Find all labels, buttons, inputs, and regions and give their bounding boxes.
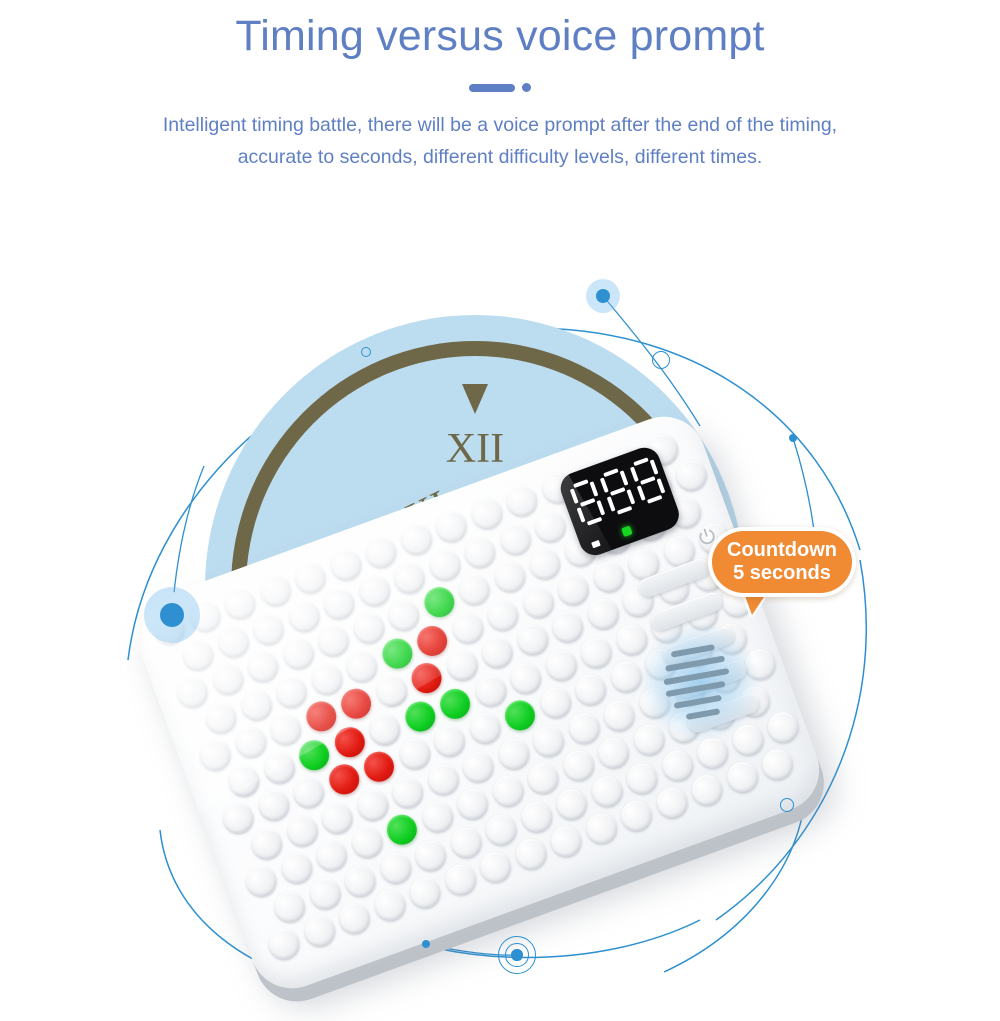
grid-pad[interactable] (594, 734, 632, 772)
grid-pad[interactable] (513, 620, 551, 658)
grid-pad-lit-green[interactable] (383, 810, 421, 848)
grid-pad-lit-green[interactable] (401, 697, 439, 735)
decor-target-ring-2 (511, 949, 522, 960)
grid-pad[interactable] (221, 584, 259, 622)
grid-pad[interactable] (247, 824, 285, 862)
grid-pad[interactable] (279, 634, 317, 672)
decor-dot-bottom (422, 940, 430, 948)
grid-pad[interactable] (542, 646, 580, 684)
grid-pad[interactable] (511, 835, 549, 873)
callout-line-1: Countdown (727, 539, 837, 562)
grid-pad[interactable] (476, 848, 514, 886)
grid-pad[interactable] (430, 722, 468, 760)
grid-pad[interactable] (571, 671, 609, 709)
grid-pad-lit-red[interactable] (337, 685, 375, 723)
grid-pad[interactable] (237, 685, 275, 723)
grid-pad[interactable] (441, 861, 479, 899)
grid-pad[interactable] (243, 647, 281, 685)
grid-pad[interactable] (758, 745, 796, 783)
grid-pad[interactable] (242, 862, 280, 900)
grid-pad-lit-green[interactable] (420, 583, 458, 621)
grid-pad[interactable] (446, 823, 484, 861)
clock-numeral-xii: XII (446, 428, 504, 470)
grid-pad[interactable] (365, 710, 403, 748)
grid-pad[interactable] (461, 533, 499, 571)
grid-pad[interactable] (388, 773, 426, 811)
led-digit (629, 456, 668, 506)
grid-pad-lit-red[interactable] (330, 723, 368, 761)
grid-pad[interactable] (411, 836, 449, 874)
grid-pad[interactable] (418, 798, 456, 836)
grid-pad[interactable] (723, 758, 761, 796)
grid-pad[interactable] (531, 507, 569, 545)
grid-pad[interactable] (341, 861, 379, 899)
grid-pad[interactable] (467, 495, 505, 533)
callout-line-2: 5 seconds (733, 562, 831, 585)
grid-pad[interactable] (224, 761, 262, 799)
grid-pad[interactable] (312, 836, 350, 874)
grid-pad[interactable] (600, 696, 638, 734)
decor-ring-upper-right (652, 351, 670, 369)
grid-pad-lit-red[interactable] (360, 748, 398, 786)
grid-pad[interactable] (672, 456, 710, 494)
grid-pad[interactable] (214, 622, 252, 660)
grid-pad-lit-green[interactable] (378, 634, 416, 672)
grid-pad[interactable] (658, 746, 696, 784)
grid-pad[interactable] (552, 784, 590, 822)
grid-pad-lit-red[interactable] (413, 621, 451, 659)
page-title: Timing versus voice prompt (0, 0, 1000, 61)
grid-pad[interactable] (320, 584, 358, 622)
grid-pad[interactable] (362, 533, 400, 571)
grid-pad[interactable] (326, 546, 364, 584)
grid-pad-lit-red[interactable] (325, 760, 363, 798)
grid-pad[interactable] (266, 710, 304, 748)
decor-ring-lower-right (780, 798, 794, 812)
callout-bubble: Countdown 5 seconds (708, 527, 856, 597)
grid-pad[interactable] (617, 796, 655, 834)
grid-pad[interactable] (471, 671, 509, 709)
grid-pad[interactable] (306, 874, 344, 912)
grid-pad-lit-green[interactable] (295, 735, 333, 773)
grid-pad[interactable] (587, 772, 625, 810)
grid-pad[interactable] (483, 596, 521, 634)
decor-dot-top (596, 289, 610, 303)
led-green-indicator (621, 525, 633, 537)
grid-pad[interactable] (406, 873, 444, 911)
grid-pad[interactable] (443, 646, 481, 684)
grid-pad[interactable] (459, 747, 497, 785)
divider-bar (469, 84, 515, 92)
grid-pad[interactable] (231, 723, 269, 761)
page-subtitle: Intelligent timing battle, there will be… (160, 110, 840, 173)
grid-pad[interactable] (519, 583, 557, 621)
grid-pad[interactable] (478, 633, 516, 671)
grid-pad[interactable] (582, 809, 620, 847)
grid-pad[interactable] (525, 545, 563, 583)
grid-pad-lit-red[interactable] (407, 659, 445, 697)
grid-pad[interactable] (372, 672, 410, 710)
grid-pad[interactable] (249, 610, 287, 648)
countdown-callout: Countdown 5 seconds (708, 527, 856, 603)
grid-pad[interactable] (376, 849, 414, 887)
grid-pad[interactable] (612, 620, 650, 658)
grid-pad[interactable] (277, 849, 315, 887)
grid-pad[interactable] (453, 785, 491, 823)
grid-pad[interactable] (254, 786, 292, 824)
grid-pad[interactable] (764, 707, 802, 745)
led-white-indicator (591, 540, 601, 548)
grid-pad[interactable] (496, 520, 534, 558)
grid-pad[interactable] (652, 784, 690, 822)
grid-pad[interactable] (547, 822, 585, 860)
grid-pad[interactable] (425, 545, 463, 583)
grid-pad[interactable] (565, 709, 603, 747)
grid-pad[interactable] (559, 746, 597, 784)
grid-pad[interactable] (272, 673, 310, 711)
grid-pad[interactable] (554, 570, 592, 608)
grid-pad[interactable] (577, 633, 615, 671)
grid-pad[interactable] (529, 721, 567, 759)
grid-pad[interactable] (395, 735, 433, 773)
grid-pad[interactable] (548, 608, 586, 646)
grid-pad[interactable] (524, 759, 562, 797)
grid-pad[interactable] (536, 683, 574, 721)
grid-pad[interactable] (265, 925, 303, 963)
grid-pad[interactable] (448, 608, 486, 646)
grid-pad[interactable] (196, 736, 234, 774)
grid-pad[interactable] (494, 734, 532, 772)
header: Timing versus voice prompt Intelligent t… (0, 0, 1000, 174)
grid-pad[interactable] (219, 799, 257, 837)
grid-pad-lit-green[interactable] (501, 696, 539, 734)
grid-pad[interactable] (465, 709, 503, 747)
grid-pad[interactable] (291, 559, 329, 597)
grid-pad[interactable] (688, 771, 726, 809)
product-illustration: XII XI X (0, 230, 1000, 1000)
grid-pad[interactable] (432, 507, 470, 545)
grid-pad[interactable] (202, 698, 240, 736)
grid-pad[interactable] (300, 912, 338, 950)
grid-pad[interactable] (173, 673, 211, 711)
grid-pad[interactable] (283, 811, 321, 849)
grid-pad[interactable] (384, 596, 422, 634)
title-divider (0, 83, 1000, 92)
grid-pad[interactable] (335, 899, 373, 937)
grid-pad[interactable] (502, 482, 540, 520)
grid-pad-lit-green[interactable] (436, 684, 474, 722)
grid-pad[interactable] (355, 571, 393, 609)
grid-pad[interactable] (589, 557, 627, 595)
grid-pad[interactable] (488, 772, 526, 810)
grid-pad[interactable] (260, 748, 298, 786)
grid-pad[interactable] (270, 887, 308, 925)
grid-pad[interactable] (353, 786, 391, 824)
grid-pad[interactable] (284, 597, 322, 635)
grid-pad[interactable] (208, 660, 246, 698)
page-root: Timing versus voice prompt Intelligent t… (0, 0, 1000, 1000)
grid-pad[interactable] (314, 622, 352, 660)
grid-pad[interactable] (424, 760, 462, 798)
grid-pad[interactable] (349, 609, 387, 647)
grid-pad[interactable] (455, 570, 493, 608)
grid-pad-lit-red[interactable] (302, 697, 340, 735)
divider-dot (522, 83, 531, 92)
grid-pad[interactable] (289, 773, 327, 811)
grid-pad[interactable] (390, 558, 428, 596)
grid-pad[interactable] (307, 660, 345, 698)
clock-tick-12-icon (462, 384, 488, 414)
grid-pad[interactable] (517, 797, 555, 835)
grid-pad[interactable] (342, 647, 380, 685)
decor-dot-right (789, 434, 797, 442)
grid-pad[interactable] (318, 798, 356, 836)
decor-dot-left (160, 603, 184, 627)
grid-pad[interactable] (347, 823, 385, 861)
grid-pad[interactable] (584, 595, 622, 633)
decor-ring-upper-left (361, 347, 371, 357)
grid-pad[interactable] (397, 520, 435, 558)
grid-pad[interactable] (370, 886, 408, 924)
grid-pad[interactable] (256, 571, 294, 609)
grid-pad[interactable] (179, 635, 217, 673)
grid-pad[interactable] (490, 557, 528, 595)
grid-pad[interactable] (623, 759, 661, 797)
grid-pad[interactable] (506, 659, 544, 697)
grid-pad[interactable] (482, 810, 520, 848)
grid-pad[interactable] (606, 658, 644, 696)
speaker-grille-icon (657, 642, 740, 723)
